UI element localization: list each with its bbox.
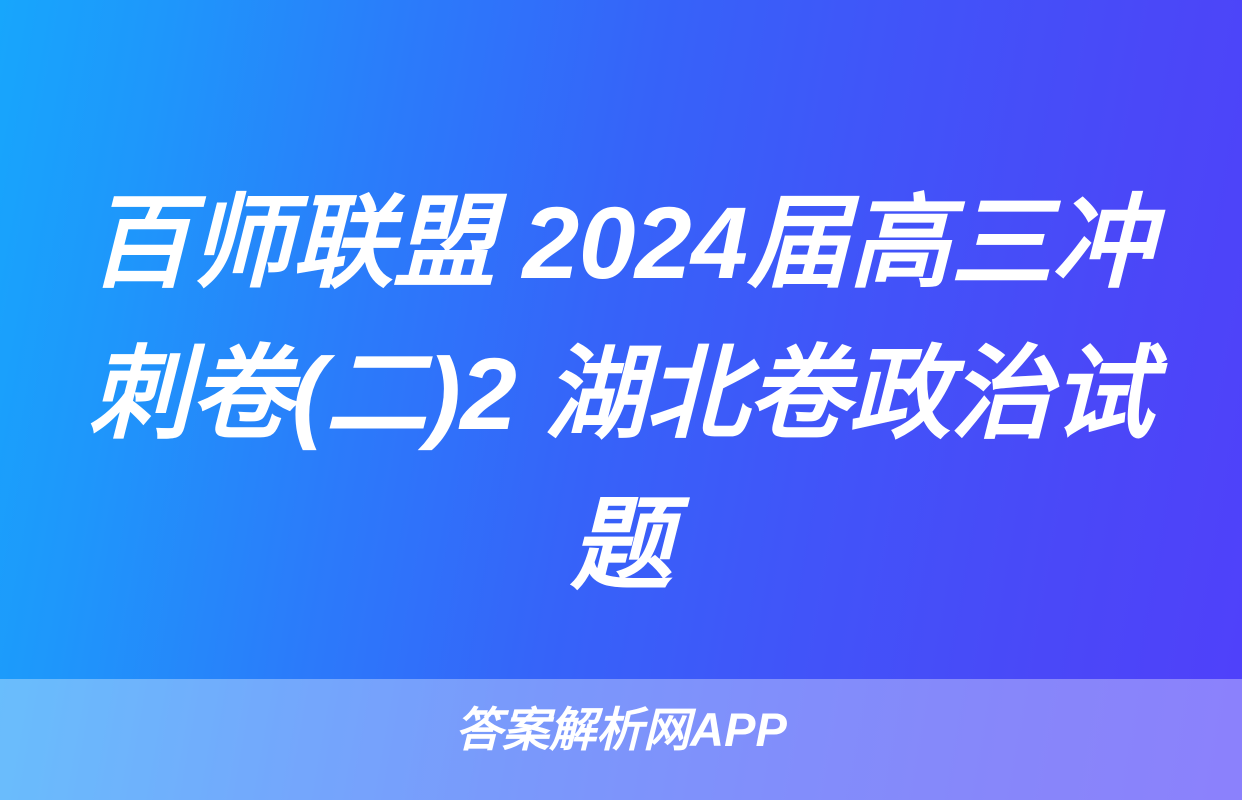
watermark-block: 答案解析网APP: [0, 704, 1242, 757]
page-title-block: 百师联盟 2024届高三冲刺卷(二)2 湖北卷政治试题: [62, 168, 1180, 621]
page-title: 百师联盟 2024届高三冲刺卷(二)2 湖北卷政治试题: [62, 168, 1180, 621]
app-watermark-label: 答案解析网APP: [455, 704, 787, 757]
exam-paper-poster: 百师联盟 2024届高三冲刺卷(二)2 湖北卷政治试题 答案解析网APP: [0, 0, 1242, 800]
